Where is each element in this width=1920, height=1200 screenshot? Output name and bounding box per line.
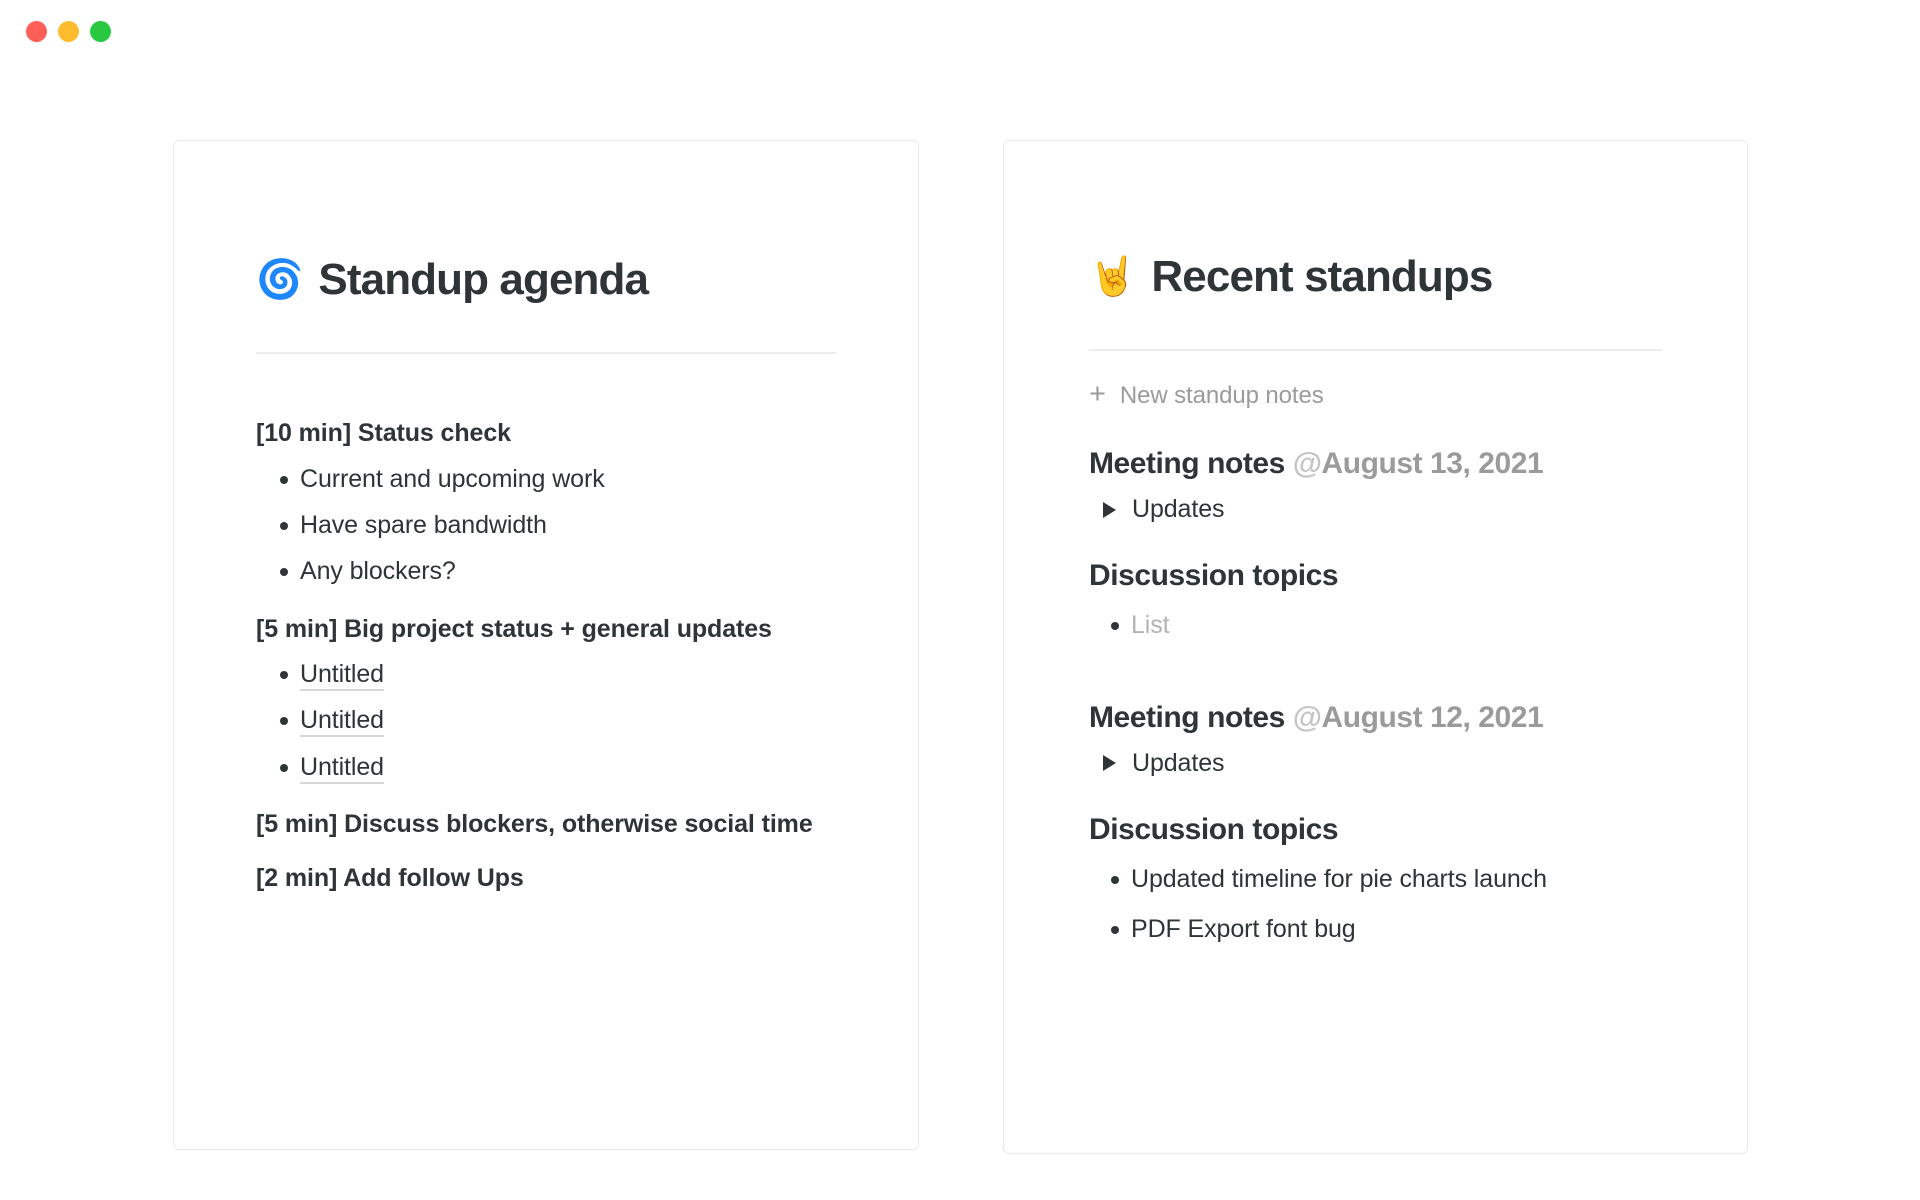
agenda-body: [10 min] Status check Current and upcomi… (256, 354, 836, 897)
updates-toggle-label: Updates (1132, 495, 1224, 524)
list-item[interactable]: Any blockers? (256, 553, 836, 589)
discussion-topics-heading: Discussion topics (1089, 556, 1662, 595)
list-item[interactable]: Current and upcoming work (256, 461, 836, 497)
date-mention[interactable]: @August 12, 2021 (1293, 701, 1544, 734)
list-item[interactable]: List (1089, 607, 1662, 643)
standup-agenda-title: 🌀 Standup agenda (256, 256, 836, 304)
chevron-right-icon[interactable] (1103, 755, 1116, 771)
standup-agenda-card: 🌀 Standup agenda [10 min] Status check C… (173, 140, 919, 1150)
date-mention[interactable]: @August 13, 2021 (1293, 447, 1544, 480)
chevron-right-icon[interactable] (1103, 502, 1116, 518)
discussion-topics-list: Updated timeline for pie charts launch P… (1089, 861, 1662, 948)
new-standup-notes-button[interactable]: + New standup notes (1089, 381, 1662, 410)
list-item[interactable]: Updated timeline for pie charts launch (1089, 861, 1662, 897)
page-title: Standup agenda (318, 256, 648, 304)
agenda-heading: [5 min] Discuss blockers, otherwise soci… (256, 807, 836, 843)
updates-toggle[interactable]: Updates (1089, 495, 1662, 524)
list-item[interactable]: PDF Export font bug (1089, 911, 1662, 947)
new-standup-notes-label: New standup notes (1120, 382, 1324, 410)
agenda-heading: [5 min] Big project status + general upd… (256, 612, 836, 648)
agenda-bullet-list: Untitled Untitled Untitled (256, 656, 836, 785)
list-item[interactable]: Have spare bandwidth (256, 507, 836, 543)
recent-standups-title: 🤘 Recent standups (1089, 253, 1662, 301)
mention-at-symbol: @ (1293, 701, 1322, 734)
sign-of-the-horns-emoji: 🤘 (1089, 258, 1135, 296)
standup-entry-name: Meeting notes (1089, 701, 1285, 734)
standup-entry: Meeting notes @August 13, 2021 Updates D… (1089, 444, 1662, 643)
standup-entry: Meeting notes @August 12, 2021 Updates D… (1089, 698, 1662, 948)
discussion-topics-list: List (1089, 607, 1662, 643)
mention-at-symbol: @ (1293, 447, 1322, 480)
mention-date: August 13, 2021 (1322, 447, 1544, 480)
page-title: Recent standups (1151, 253, 1492, 301)
recent-standups-card: 🤘 Recent standups + New standup notes Me… (1003, 140, 1748, 1154)
mention-date: August 12, 2021 (1322, 701, 1544, 734)
agenda-heading: [2 min] Add follow Ups (256, 861, 836, 897)
recent-standups-body: + New standup notes Meeting notes @Augus… (1089, 351, 1662, 947)
workspace: 🌀 Standup agenda [10 min] Status check C… (0, 0, 1920, 1200)
list-item[interactable]: Untitled (256, 702, 836, 738)
list-item-label: PDF Export font bug (1131, 915, 1356, 943)
list-item-label: Have spare bandwidth (300, 511, 547, 539)
list-item-label: List (1131, 611, 1170, 639)
updates-toggle[interactable]: Updates (1089, 749, 1662, 778)
agenda-bullet-list: Current and upcoming work Have spare ban… (256, 461, 836, 590)
list-item-label: Current and upcoming work (300, 465, 605, 493)
standup-entry-title[interactable]: Meeting notes @August 12, 2021 (1089, 698, 1662, 737)
list-item[interactable]: Untitled (256, 749, 836, 785)
page-link[interactable]: Untitled (300, 753, 384, 784)
standup-entry-title[interactable]: Meeting notes @August 13, 2021 (1089, 444, 1662, 483)
standup-entry-name: Meeting notes (1089, 447, 1285, 480)
spiral-emoji: 🌀 (256, 261, 302, 299)
list-item-label: Updated timeline for pie charts launch (1131, 865, 1547, 893)
discussion-topics-heading: Discussion topics (1089, 810, 1662, 849)
plus-icon: + (1089, 380, 1106, 409)
updates-toggle-label: Updates (1132, 749, 1224, 778)
list-item-label: Any blockers? (300, 557, 456, 585)
page-link[interactable]: Untitled (300, 660, 384, 691)
agenda-block: [10 min] Status check Current and upcomi… (256, 416, 836, 589)
page-link[interactable]: Untitled (300, 706, 384, 737)
agenda-heading: [10 min] Status check (256, 416, 836, 452)
list-item[interactable]: Untitled (256, 656, 836, 692)
agenda-block: [5 min] Big project status + general upd… (256, 612, 836, 785)
